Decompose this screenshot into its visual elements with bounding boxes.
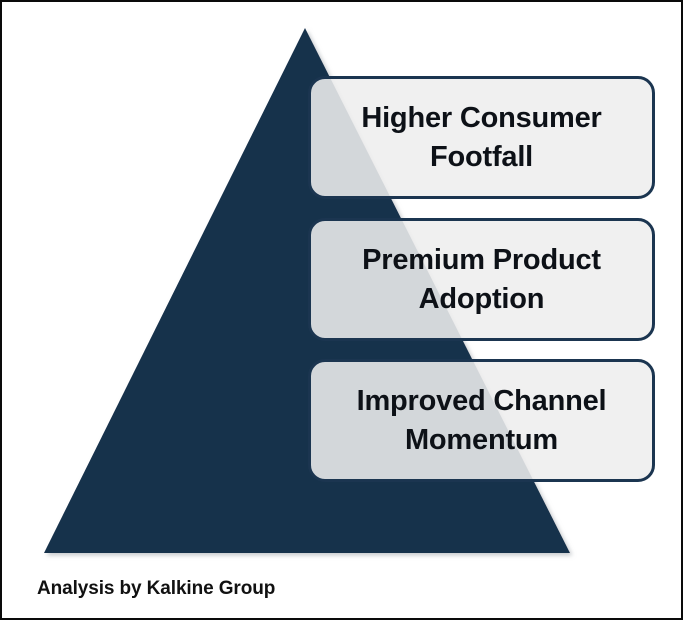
stage-label-higher-consumer-footfall: Higher Consumer Footfall: [347, 99, 615, 176]
stage-label-improved-channel-momentum: Improved Channel Momentum: [343, 382, 621, 459]
stage-box-premium-product-adoption[interactable]: Premium Product Adoption: [308, 218, 655, 341]
source-caption: Analysis by Kalkine Group: [37, 578, 275, 600]
stage-box-improved-channel-momentum[interactable]: Improved Channel Momentum: [308, 359, 655, 482]
stage-box-higher-consumer-footfall[interactable]: Higher Consumer Footfall: [308, 76, 655, 199]
diagram-canvas: Higher Consumer Footfall Premium Product…: [0, 0, 683, 620]
stage-label-premium-product-adoption: Premium Product Adoption: [348, 241, 615, 318]
